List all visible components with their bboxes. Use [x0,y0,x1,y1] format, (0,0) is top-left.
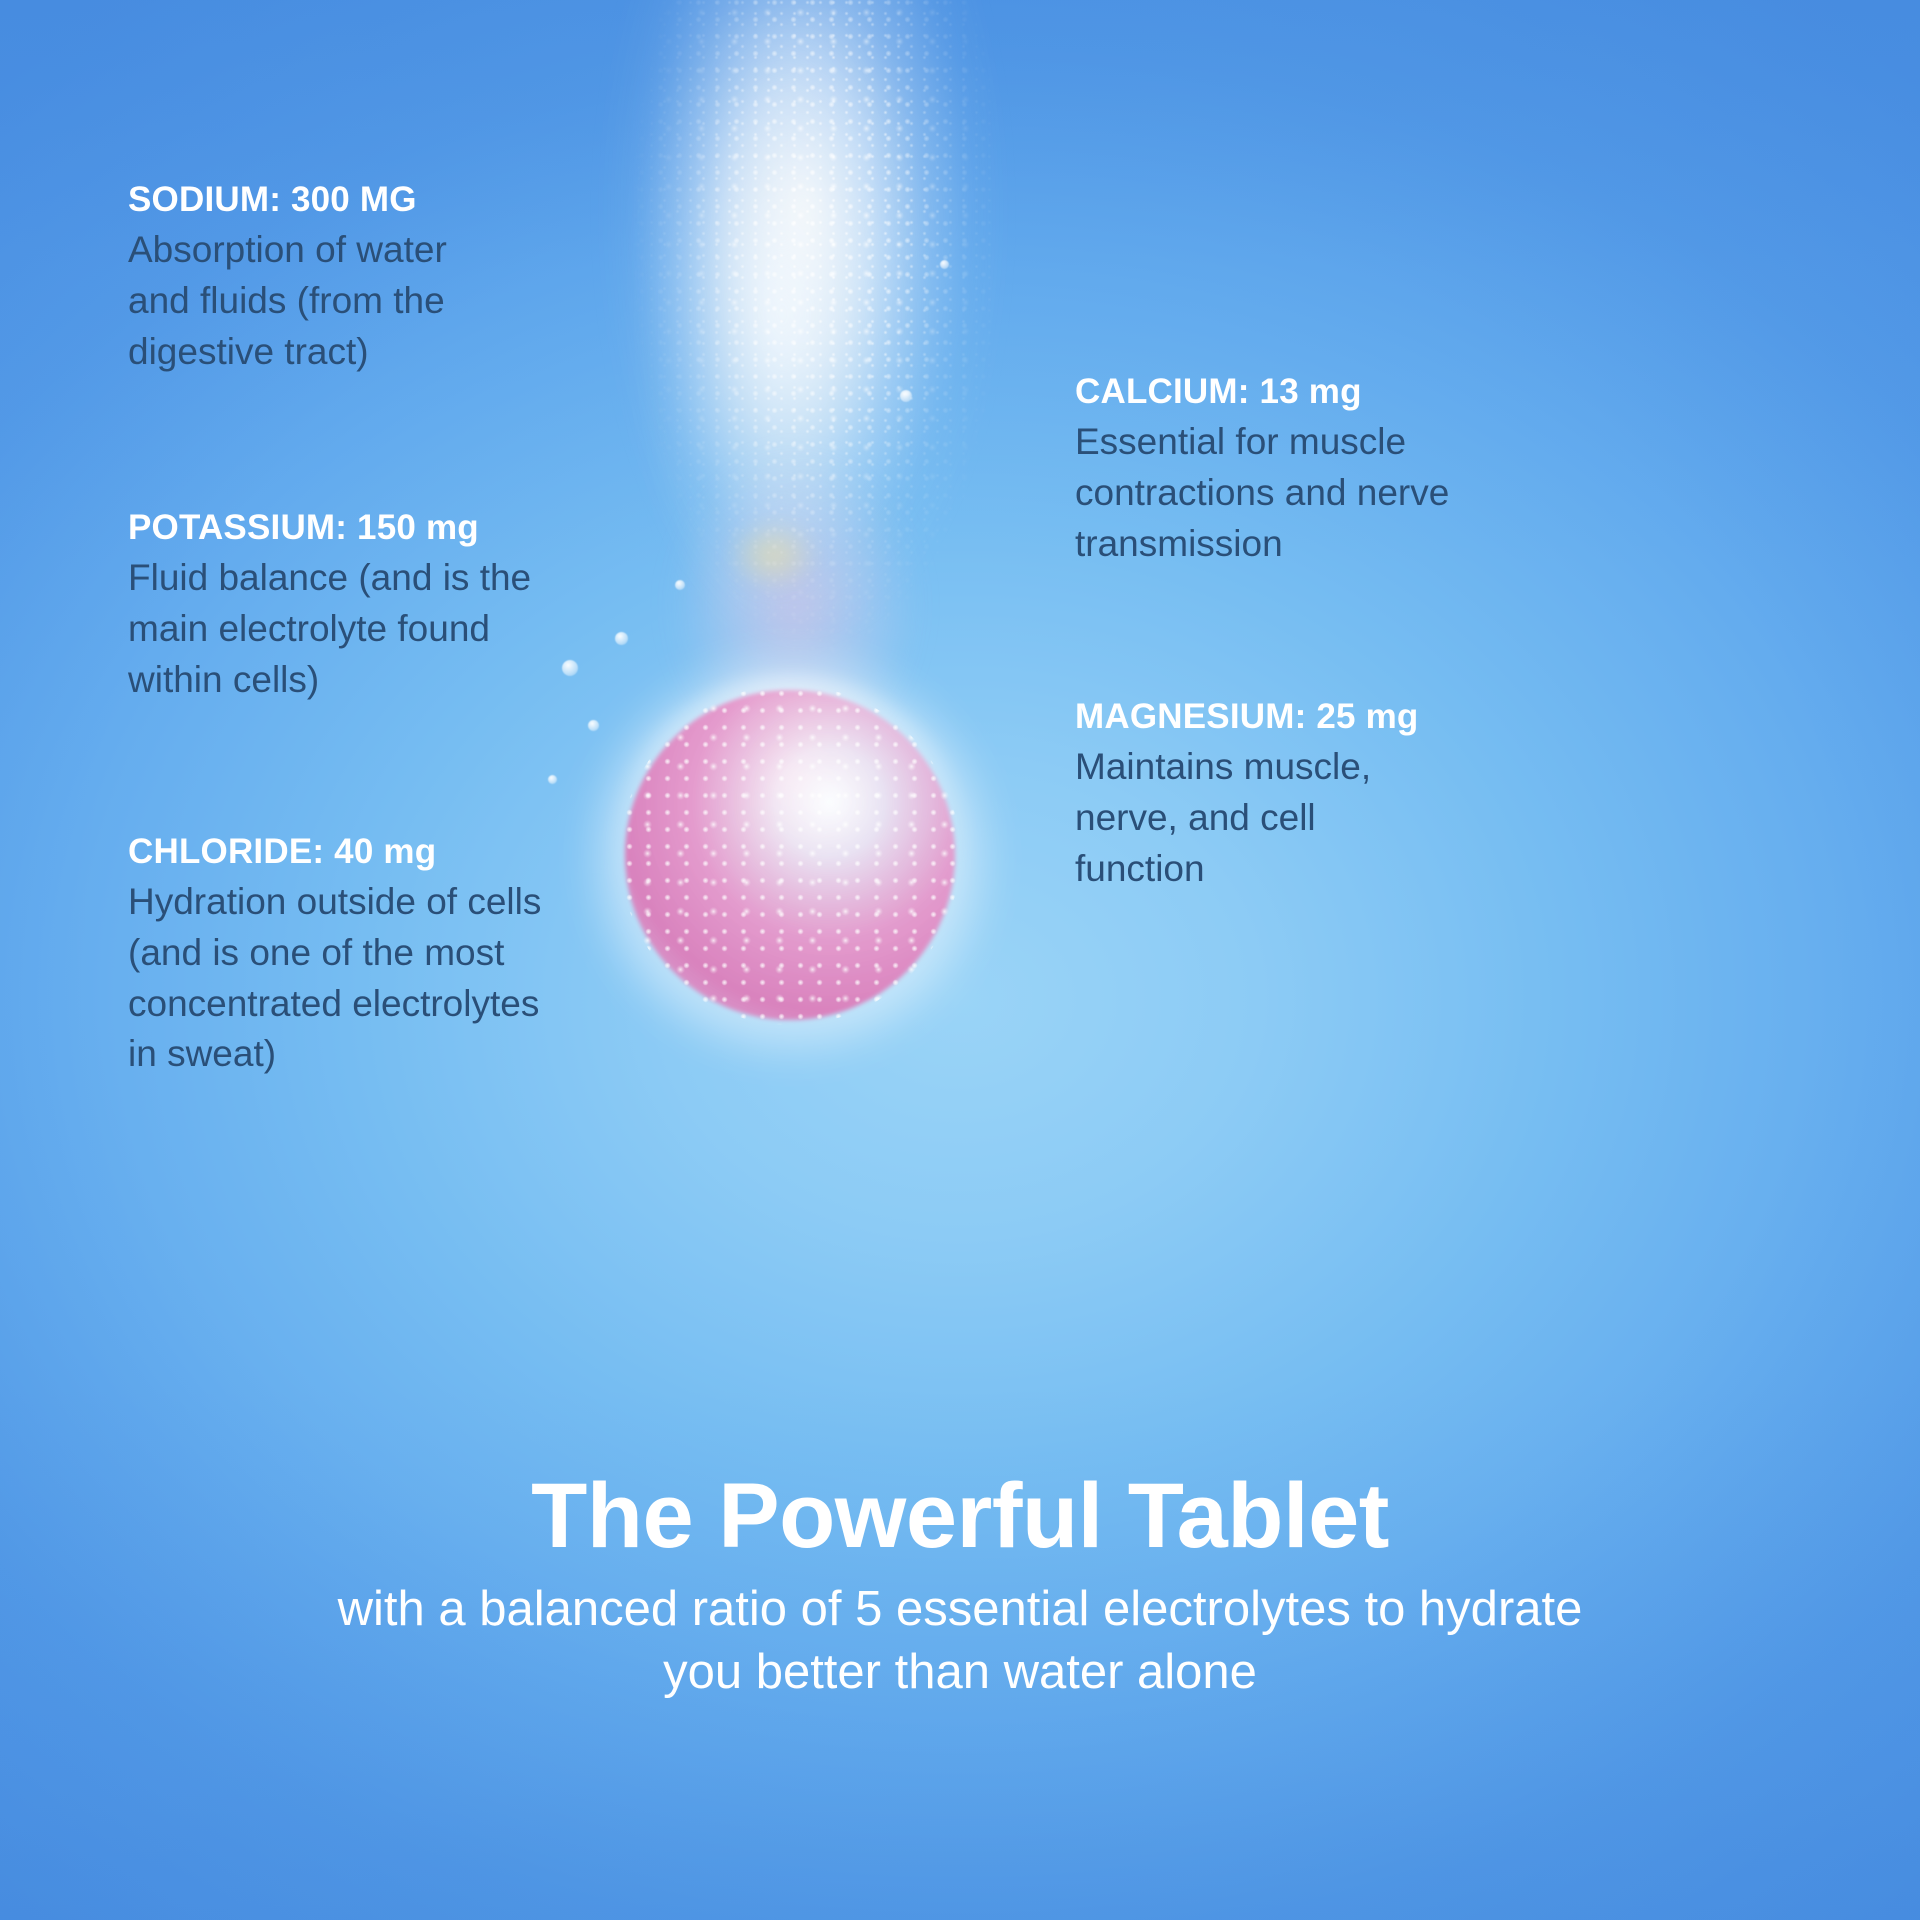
fact-magnesium: MAGNESIUM: 25 mg Maintains muscle, nerve… [1075,697,1495,894]
headline-subtitle: with a balanced ratio of 5 essential ele… [300,1578,1620,1703]
footer-block: The Powerful Tablet with a balanced rati… [0,1470,1920,1703]
fact-chloride: CHLORIDE: 40 mg Hydration outside of cel… [128,832,568,1080]
fact-potassium: POTASSIUM: 150 mg Fluid balance (and is … [128,508,548,705]
fact-magnesium-body: Maintains muscle, nerve, and cell functi… [1075,742,1445,894]
infographic-canvas: SODIUM: 300 MG Absorption of water and f… [0,0,1920,1920]
fact-chloride-body: Hydration outside of cells (and is one o… [128,877,560,1080]
fact-chloride-title: CHLORIDE: 40 mg [128,832,568,871]
fact-sodium-title: SODIUM: 300 MG [128,180,528,219]
fact-sodium-body: Absorption of water and fluids (from the… [128,225,513,377]
fact-calcium: CALCIUM: 13 mg Essential for muscle cont… [1075,372,1475,569]
fact-potassium-title: POTASSIUM: 150 mg [128,508,548,547]
fact-calcium-title: CALCIUM: 13 mg [1075,372,1475,411]
fact-sodium: SODIUM: 300 MG Absorption of water and f… [128,180,528,377]
fact-magnesium-title: MAGNESIUM: 25 mg [1075,697,1495,736]
fact-calcium-body: Essential for muscle contractions and ne… [1075,417,1470,569]
fact-potassium-body: Fluid balance (and is the main electroly… [128,553,533,705]
headline-the-powerful-tablet: The Powerful Tablet [0,1470,1920,1562]
